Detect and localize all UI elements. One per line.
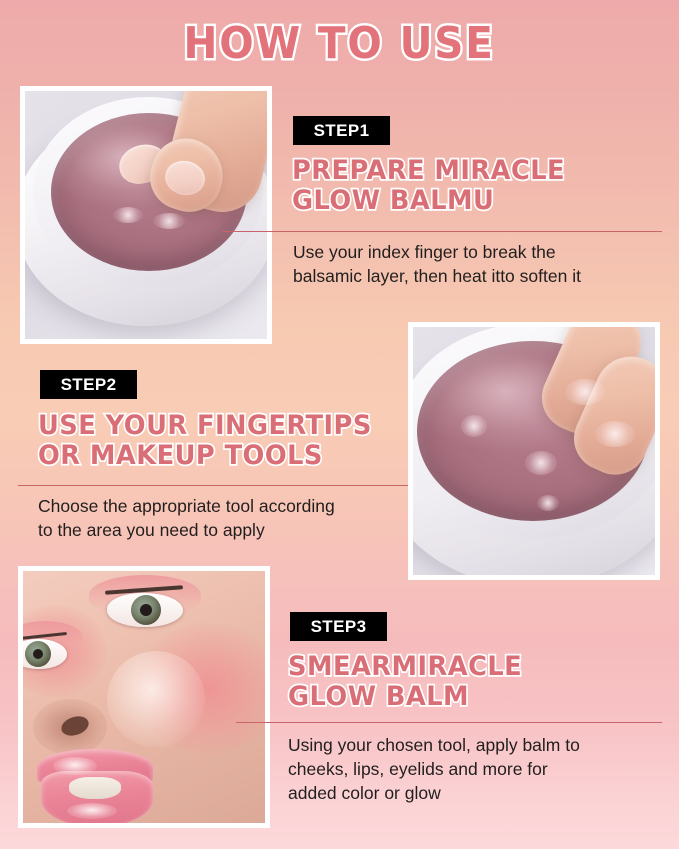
balm-texture-mark: [537, 495, 559, 511]
step-1-badge: STEP1: [293, 116, 390, 145]
cheek-highlight: [107, 651, 205, 747]
teeth: [69, 777, 121, 799]
step-1-divider: [222, 231, 662, 232]
balm-texture-mark: [153, 213, 185, 229]
step-3-divider: [236, 722, 662, 723]
step-3-photo: [18, 566, 270, 828]
finger-gloss-highlight: [565, 379, 605, 405]
balm-texture-mark: [525, 451, 557, 475]
pupil-left: [33, 649, 43, 659]
lip-gloss-highlight: [53, 757, 97, 775]
step-1-body-text: Use your index finger to break the balsa…: [293, 240, 663, 288]
balm-texture-mark: [461, 415, 487, 437]
step-3-photo-scene: [23, 571, 265, 823]
step-1-photo: [20, 86, 272, 344]
step-2-divider: [18, 485, 412, 486]
finger-gloss-highlight: [595, 421, 635, 447]
step-2-body-text: Choose the appropriate tool according to…: [38, 494, 408, 542]
step-3-headline: SMEARMIRACLE GLOW BALM: [288, 652, 649, 712]
step-1-photo-scene: [25, 91, 267, 339]
lip-gloss-highlight-lower: [67, 803, 117, 819]
step-2-headline: USE YOUR FINGERTIPS OR MAKEUP TOOLS: [38, 411, 399, 471]
step-2-photo-scene: [413, 327, 655, 575]
step-2-photo: [408, 322, 660, 580]
eye-right: [107, 593, 183, 627]
step-2-badge: STEP2: [40, 370, 137, 399]
title-container: HOW TO USE: [0, 18, 679, 69]
step-1-headline: PREPARE MIRACLE GLOW BALMU: [292, 156, 653, 216]
step-3-badge: STEP3: [290, 612, 387, 641]
page-title: HOW TO USE: [184, 18, 495, 69]
pupil-right: [140, 604, 152, 616]
how-to-use-infographic: HOW TO USE STEP1 PREPARE MIRACLE GLOW BA…: [0, 0, 679, 849]
step-3-body-text: Using your chosen tool, apply balm to ch…: [288, 733, 666, 805]
balm-texture-mark: [113, 207, 143, 223]
